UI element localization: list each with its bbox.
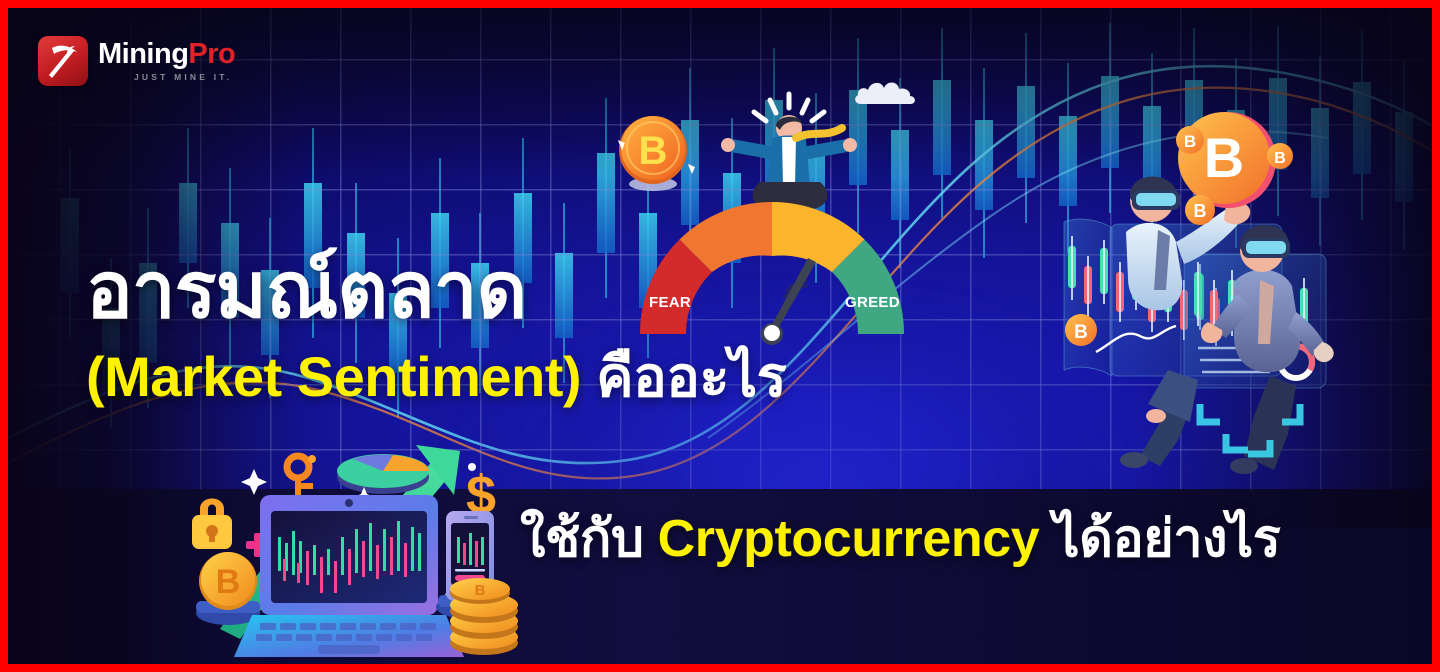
subheadline-highlight: Cryptocurrency — [658, 510, 1040, 568]
svg-text:B: B — [639, 129, 668, 173]
svg-text:B: B — [1184, 132, 1196, 151]
brand-name-primary: Mining — [98, 38, 188, 70]
headline-line-2: (Market Sentiment) คืออะไร — [86, 349, 786, 405]
brand-tagline: JUST MINE IT. — [134, 73, 235, 82]
headline-line-2-tail: คืออะไร — [596, 345, 786, 408]
gauge-label-greed: GREED — [845, 294, 900, 311]
svg-text:B: B — [475, 582, 486, 599]
subheadline-prefix: ใช้กับ — [520, 510, 644, 568]
svg-text:B: B — [216, 563, 241, 601]
bitcoin-coin-icon: B — [608, 106, 698, 196]
svg-text:B: B — [1204, 126, 1244, 189]
svg-text:B: B — [1074, 322, 1088, 343]
headline-line-2-highlight: (Market Sentiment) — [86, 345, 581, 408]
subheadline-suffix: ได้อย่างไร — [1053, 510, 1280, 568]
fear-greed-gauge: FEAR GREED — [632, 186, 912, 346]
gauge-needle — [768, 258, 816, 332]
gauge-hub — [764, 325, 780, 341]
subheadline-block: ใช้กับ Cryptocurrency ได้อย่างไร — [520, 513, 1280, 565]
brand-logo[interactable]: MiningPro JUST MINE IT. — [38, 36, 235, 86]
gauge-label-fear: FEAR — [649, 294, 691, 311]
pickaxe-icon — [38, 36, 88, 86]
svg-text:B: B — [1274, 150, 1286, 167]
brand-name-secondary: Pro — [188, 38, 235, 70]
vr-traders-illustration: B — [1048, 104, 1420, 476]
svg-text:B: B — [1194, 201, 1207, 221]
promo-banner: MiningPro JUST MINE IT. อารมณ์ตลาด (Mark… — [0, 0, 1440, 672]
laptop-trading-illustration: $ B — [168, 433, 538, 672]
